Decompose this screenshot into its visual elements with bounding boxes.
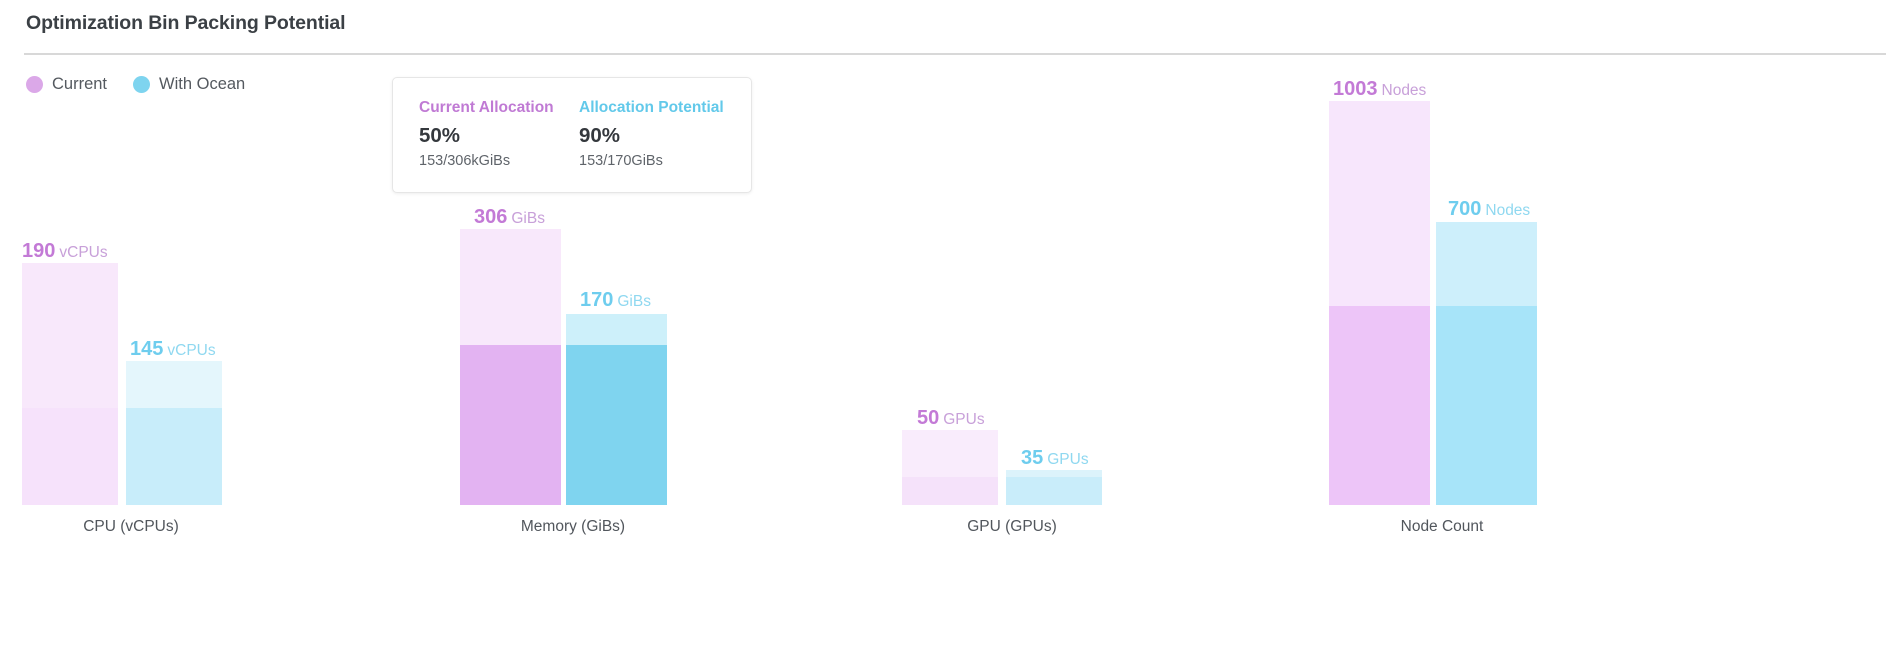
chart-panel: Optimization Bin Packing Potential Curre… — [0, 0, 1886, 666]
bar-value-gpu-with-ocean: 35 — [1021, 447, 1043, 469]
bar-cpu-with-ocean-potential — [126, 361, 222, 408]
bar-gpu-current-potential — [902, 430, 998, 477]
bar-label-cpu-current: 190vCPUs — [22, 241, 108, 261]
bar-value-node-count-current: 1003 — [1333, 78, 1378, 100]
bar-unit-cpu-current: vCPUs — [59, 244, 107, 261]
bar-memory-current[interactable] — [460, 229, 561, 505]
bar-value-memory-current: 306 — [474, 206, 507, 228]
bar-node-count-current-used — [1329, 306, 1430, 505]
bar-label-memory-current: 306GiBs — [474, 207, 545, 227]
bar-label-cpu-with-ocean: 145vCPUs — [130, 339, 216, 359]
bar-node-count-with-ocean-used — [1436, 306, 1537, 505]
bar-value-cpu-current: 190 — [22, 240, 55, 262]
axis-label-cpu: CPU (vCPUs) — [0, 518, 262, 536]
bar-label-gpu-current: 50GPUs — [917, 408, 985, 428]
bar-node-count-with-ocean-potential — [1436, 222, 1537, 306]
bar-cpu-with-ocean-used — [126, 408, 222, 505]
bar-value-gpu-current: 50 — [917, 407, 939, 429]
bar-value-node-count-with-ocean: 700 — [1448, 198, 1481, 220]
axis-label-memory: Memory (GiBs) — [442, 518, 704, 536]
bar-node-count-current[interactable] — [1329, 101, 1430, 505]
bar-cpu-current[interactable] — [22, 263, 118, 505]
bar-gpu-with-ocean-used — [1006, 477, 1102, 505]
bar-unit-node-count-with-ocean: Nodes — [1485, 202, 1530, 219]
bar-memory-current-used — [460, 345, 561, 505]
axis-label-gpu: GPU (GPUs) — [881, 518, 1143, 536]
bar-label-gpu-with-ocean: 35GPUs — [1021, 448, 1089, 468]
bar-unit-gpu-with-ocean: GPUs — [1047, 451, 1088, 468]
bar-chart-plot: 190vCPUs 145vCPUs CPU (vCPUs) 306GiBs — [0, 0, 1886, 666]
bar-label-node-count-with-ocean: 700Nodes — [1448, 199, 1530, 219]
bar-value-cpu-with-ocean: 145 — [130, 338, 163, 360]
axis-label-node-count: Node Count — [1311, 518, 1573, 536]
bar-group-gpu: 50GPUs 35GPUs GPU (GPUs) — [881, 0, 1143, 666]
bar-memory-with-ocean[interactable] — [566, 314, 667, 505]
bar-group-cpu: 190vCPUs 145vCPUs CPU (vCPUs) — [0, 0, 262, 666]
bar-gpu-current[interactable] — [902, 430, 998, 505]
bar-unit-memory-current: GiBs — [511, 210, 545, 227]
bar-label-node-count-current: 1003Nodes — [1333, 79, 1426, 99]
bar-cpu-current-potential — [22, 263, 118, 408]
bar-unit-node-count-current: Nodes — [1382, 82, 1427, 99]
bar-cpu-current-used — [22, 408, 118, 505]
bar-gpu-with-ocean-potential — [1006, 470, 1102, 477]
bar-memory-current-potential — [460, 229, 561, 345]
bar-label-memory-with-ocean: 170GiBs — [580, 290, 651, 310]
bar-memory-with-ocean-potential — [566, 314, 667, 345]
bar-node-count-current-potential — [1329, 101, 1430, 306]
bar-gpu-with-ocean[interactable] — [1006, 470, 1102, 505]
bar-group-memory: 306GiBs 170GiBs Memory (GiBs) — [442, 0, 704, 666]
bar-group-node-count: 1003Nodes 700Nodes Node Count — [1311, 0, 1573, 666]
bar-unit-memory-with-ocean: GiBs — [617, 293, 651, 310]
bar-memory-with-ocean-used — [566, 345, 667, 505]
bar-unit-cpu-with-ocean: vCPUs — [167, 342, 215, 359]
bar-unit-gpu-current: GPUs — [943, 411, 984, 428]
bar-value-memory-with-ocean: 170 — [580, 289, 613, 311]
bar-node-count-with-ocean[interactable] — [1436, 222, 1537, 505]
bar-gpu-current-used — [902, 477, 998, 505]
bar-cpu-with-ocean[interactable] — [126, 361, 222, 505]
